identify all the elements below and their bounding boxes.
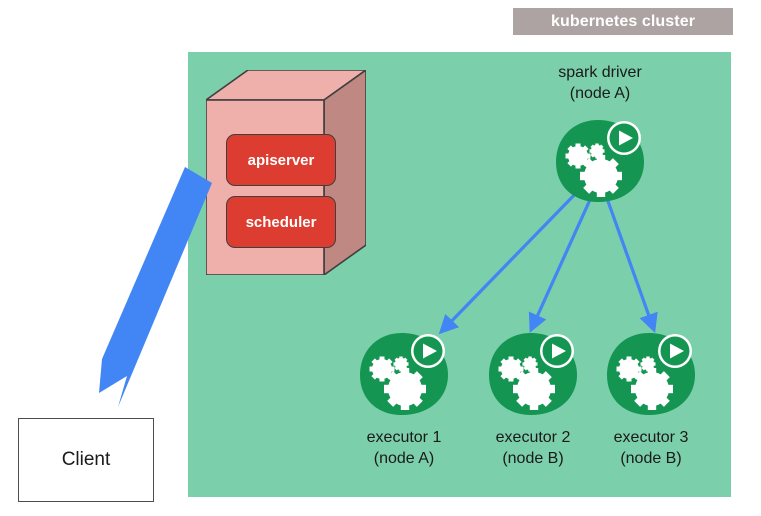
- caption-executor-2: executor 2 (node B): [473, 427, 593, 469]
- service-scheduler[interactable]: scheduler: [226, 196, 336, 248]
- node-executor-2[interactable]: [487, 331, 579, 417]
- node-executor-3[interactable]: [605, 331, 697, 417]
- spark-submit-arrow: [55, 160, 230, 410]
- executor-1-name: executor 1: [344, 427, 464, 448]
- node-spark-driver[interactable]: [554, 118, 646, 204]
- caption-executor-1: executor 1 (node A): [344, 427, 464, 469]
- node-executor-1[interactable]: [358, 331, 450, 417]
- executor-1-node: (node A): [344, 448, 464, 469]
- diagram-canvas: kubernetes cluster apiserver scheduler s…: [0, 0, 761, 516]
- kubernetes-cluster-label: kubernetes cluster: [513, 8, 733, 35]
- executor-2-node: (node B): [473, 448, 593, 469]
- gear-large: [513, 368, 555, 410]
- gear-large: [631, 368, 673, 410]
- gear-large: [580, 155, 622, 197]
- caption-spark-driver: spark driver (node A): [535, 62, 665, 104]
- driver-name: spark driver: [535, 62, 665, 83]
- executor-3-name: executor 3: [591, 427, 711, 448]
- spark-submit-arrow-shape: [99, 167, 212, 407]
- gear-large: [384, 368, 426, 410]
- executor-2-name: executor 2: [473, 427, 593, 448]
- service-apiserver[interactable]: apiserver: [226, 134, 336, 186]
- client-box[interactable]: Client: [18, 418, 154, 502]
- executor-3-node: (node B): [591, 448, 711, 469]
- driver-node: (node A): [535, 83, 665, 104]
- caption-executor-3: executor 3 (node B): [591, 427, 711, 469]
